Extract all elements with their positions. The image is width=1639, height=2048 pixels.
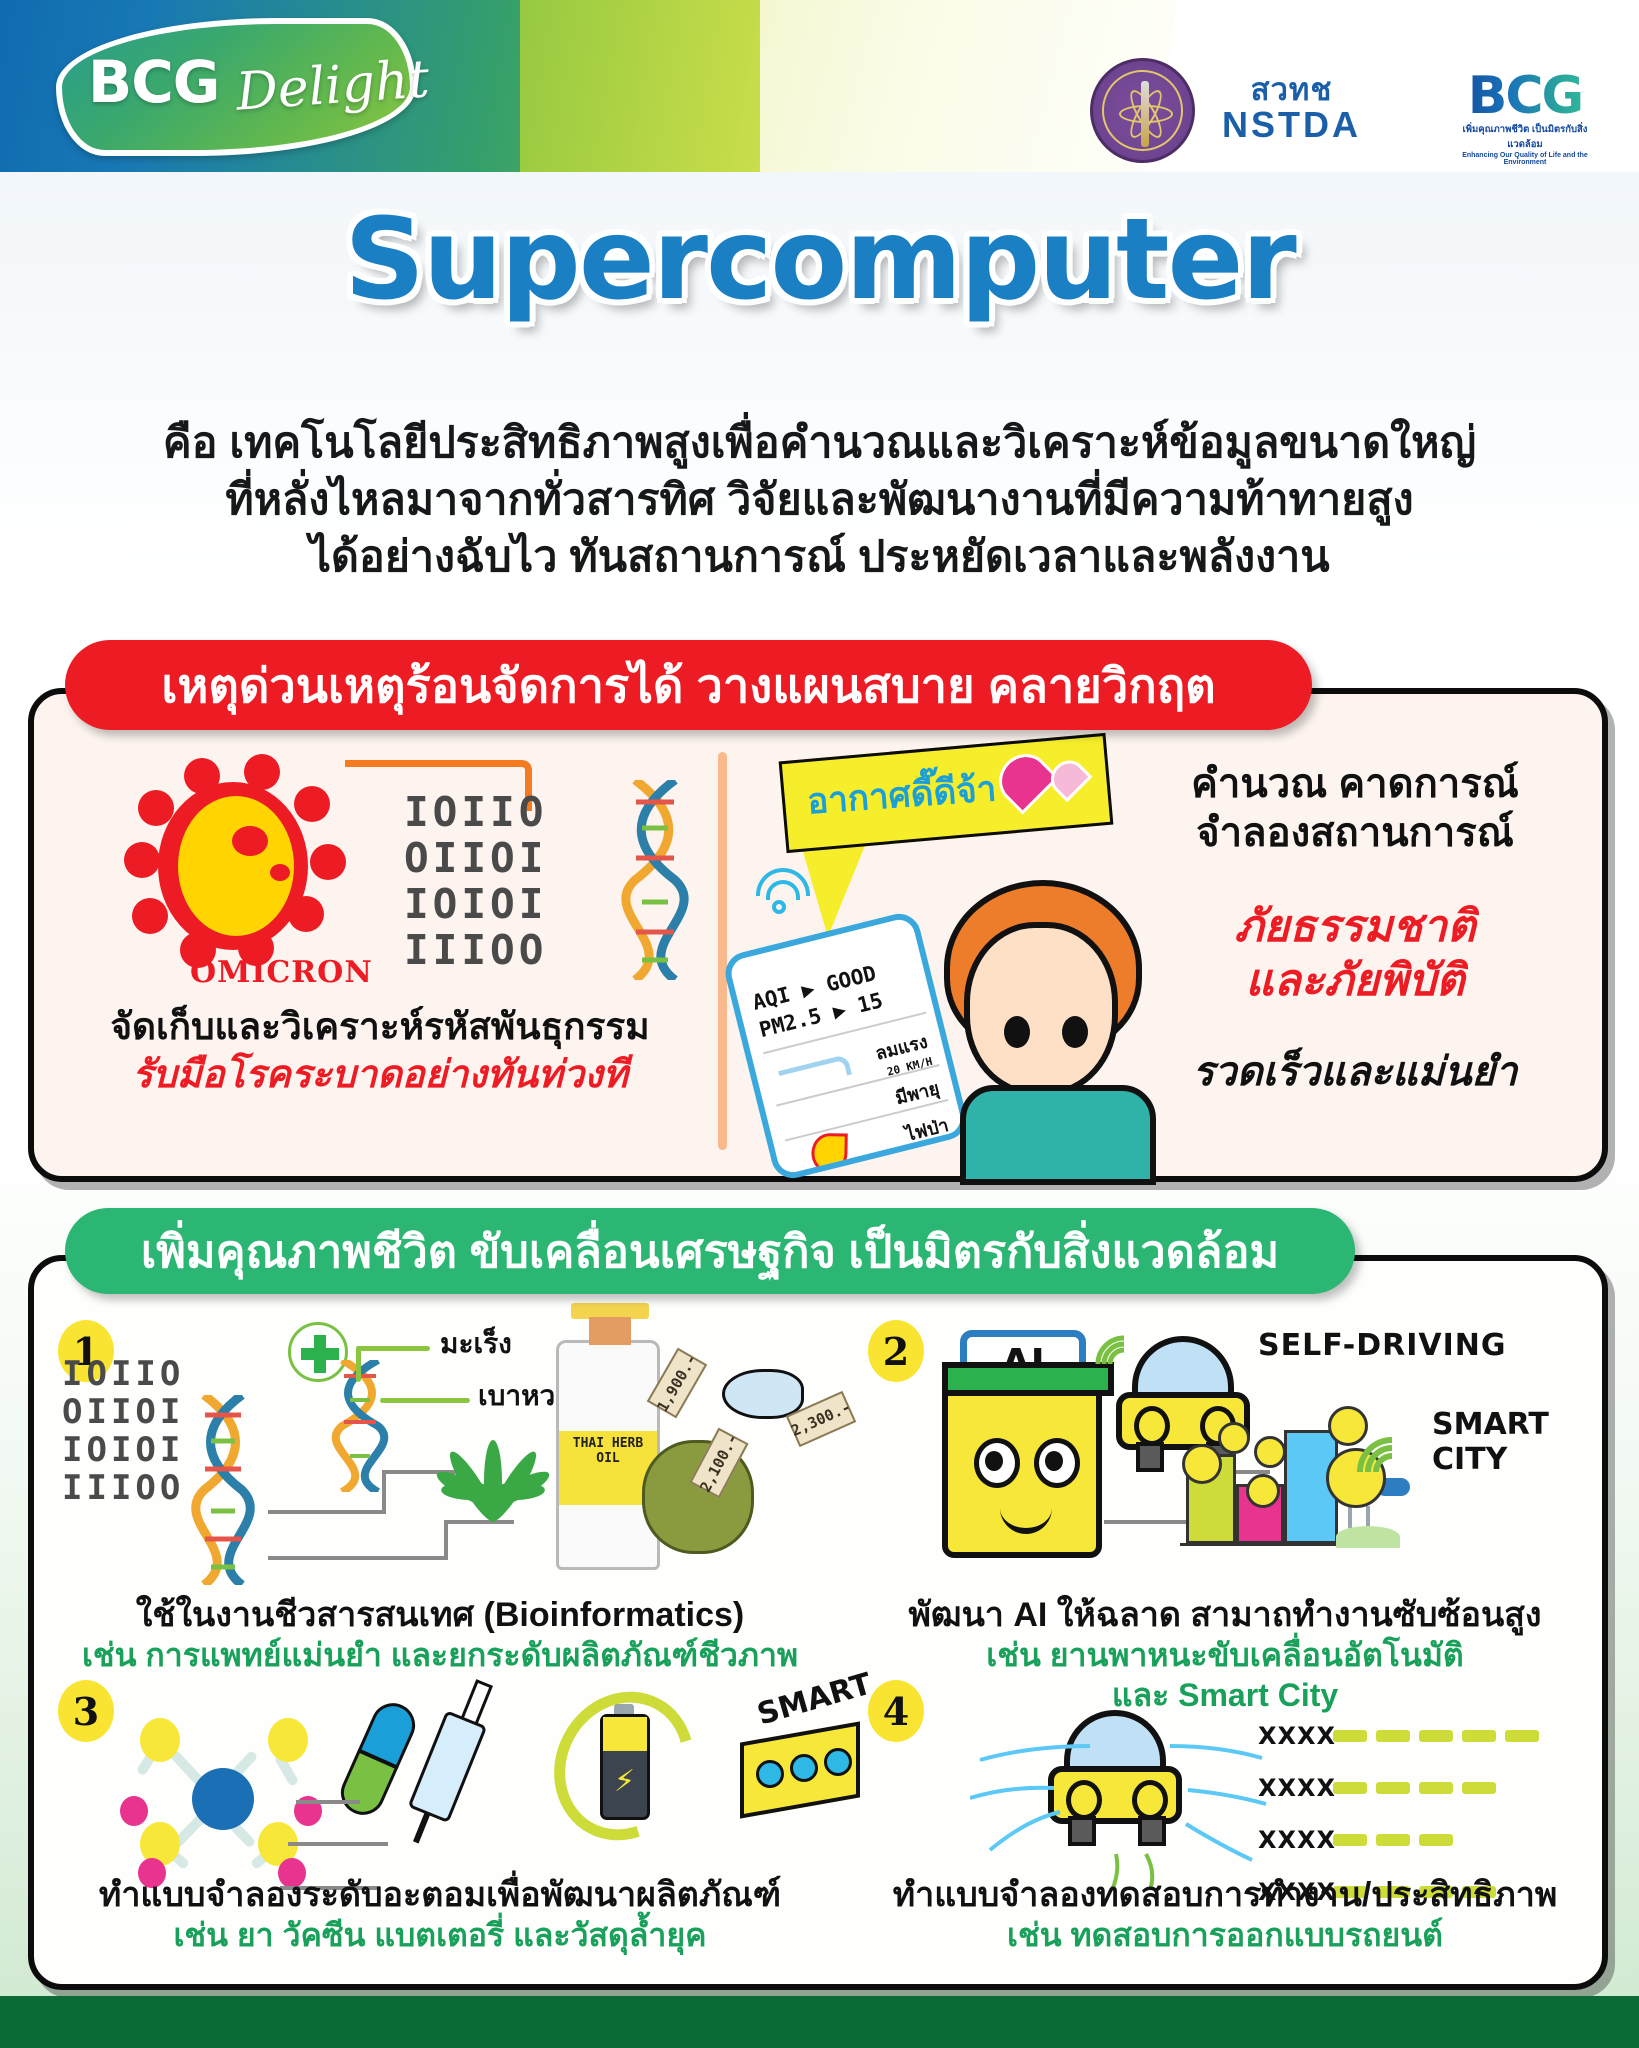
section-1-left-caption: จัดเก็บและวิเคราะห์รหัสพันธุกรรม — [60, 1004, 700, 1049]
nstda-wordmark: สวทช NSTDA — [1222, 74, 1361, 143]
omicron-label: OMICRON — [190, 955, 373, 990]
section-1-right-accent: ภัยธรรมชาติ และภัยพิบัติ — [1120, 900, 1590, 1007]
dna-helix-icon-2 — [190, 1395, 256, 1585]
bar-row-2: XXXX — [1258, 1774, 1539, 1802]
bcg-logo: BCG เพิ่มคุณภาพชีวิต เป็นมิตรกับสิ่งแวดล… — [1448, 72, 1602, 166]
section-2-banner: เพิ่มคุณภาพชีวิต ขับเคลื่อนเศรษฐกิจ เป็น… — [65, 1208, 1355, 1294]
bcg-delight-logo: BCG Delight — [56, 18, 416, 156]
footer-bar — [0, 1996, 1639, 2048]
item-3-caption-main: ทำแบบจำลองระดับอะตอมเพื่อพัฒนาผลิตภัณฑ์ — [45, 1875, 835, 1916]
binary-code-2: IOIIO OIIOI IOIOI IIIOO — [62, 1355, 184, 1507]
nstda-seal-icon — [1090, 58, 1195, 163]
heart-icon-large — [989, 744, 1060, 815]
nstda-english-text: NSTDA — [1222, 107, 1361, 143]
item-1-caption-example: เช่น การแพทย์แม่นยำ และยกระดับผลิตภัณฑ์ช… — [45, 1636, 835, 1675]
face-shape — [964, 922, 1118, 1096]
molecule-icon — [118, 1700, 328, 1890]
smart-material-icon — [740, 1708, 880, 1816]
item-2-caption-main: พัฒนา AI ให้ฉลาด สามาถทำงานซับซ้อนสูง — [845, 1595, 1605, 1636]
ai-robot-icon — [942, 1380, 1102, 1558]
item-3-number: 3 — [58, 1680, 114, 1742]
signal-icon-car — [1090, 1320, 1150, 1370]
section-1-left-caption-accent: รับมือโรคระบาดอย่างทันท่วงที — [60, 1052, 700, 1098]
herb-oil-bottle: THAI HERB OIL — [556, 1340, 660, 1570]
bcg-delight-logo-text: BCG — [88, 48, 219, 116]
torso-shirt — [960, 1085, 1156, 1185]
item-3-caption: ทำแบบจำลองระดับอะตอมเพื่อพัฒนาผลิตภัณฑ์ … — [45, 1875, 835, 1956]
dna-helix-icon — [620, 780, 690, 980]
item-4-caption: ทำแบบจำลองทดสอบการทำงาน/ประสิทธิภาพ เช่น… — [845, 1875, 1605, 1956]
item-2-caption-example: เช่น ยานพาหนะขับเคลื่อนอัตโนมัติ — [845, 1636, 1605, 1675]
bcg-tagline-thai: เพิ่มคุณภาพชีวิต เป็นมิตรกับสิ่งแวดล้อม — [1448, 122, 1602, 152]
nstda-thai-text: สวทช — [1222, 74, 1361, 105]
lead-line-1: คือ เทคโนโลยีประสิทธิภาพสูงเพื่อคำนวณและ… — [0, 415, 1639, 472]
section-1-right-line-1: คำนวณ คาดการณ์ จำลองสถานการณ์ — [1120, 760, 1590, 858]
wind-icon — [778, 1054, 852, 1092]
item-2-number: 2 — [868, 1320, 924, 1382]
self-driving-label: SELF-DRIVING — [1258, 1328, 1507, 1363]
wifi-icon — [756, 866, 808, 910]
item-4-caption-example: เช่น ทดสอบการออกแบบรถยนต์ — [845, 1916, 1605, 1955]
item-1-caption: ใช้ในงานชีวสารสนเทศ (Bioinformatics) เช่… — [45, 1595, 835, 1676]
lead-line-3: ได้อย่างฉับไว ทันสถานการณ์ ประหยัดเวลาแล… — [0, 529, 1639, 586]
battery-recycle-icon: ⚡ — [556, 1690, 692, 1842]
item-1-caption-main: ใช้ในงานชีวสารสนเทศ (Bioinformatics) — [45, 1595, 835, 1636]
bar-row-1: XXXX — [1258, 1722, 1539, 1750]
speech-bubble-text: อากาศดี๊ดีจ้า — [805, 761, 998, 829]
section-1-banner: เหตุด่วนเหตุร้อนจัดการได้ วางแผนสบาย คลา… — [65, 640, 1312, 730]
heart-icon-small — [1044, 753, 1093, 802]
item-4-caption-main: ทำแบบจำลองทดสอบการทำงาน/ประสิทธิภาพ — [845, 1875, 1605, 1916]
bcg-tagline-english: Enhancing Our Quality of Life and the En… — [1448, 152, 1602, 166]
signal-icon-city — [1352, 1420, 1422, 1480]
divider-bar — [718, 752, 727, 1150]
cannabis-leaf-icon — [432, 1430, 552, 1570]
smart-city-label: SMARTCITY — [1432, 1408, 1549, 1477]
binary-code-1: IOIIO OIIOI IOIOI IIIOO — [404, 790, 547, 974]
item-2-caption: พัฒนา AI ให้ฉลาด สามาถทำงานซับซ้อนสูง เช… — [845, 1595, 1605, 1715]
header-banner: BCG Delight สวทช NSTDA BCG เพิ่มคุณภาพชี… — [0, 0, 1639, 172]
item-4-number: 4 — [868, 1680, 924, 1742]
item-1-label-cancer: มะเร็ง — [440, 1322, 512, 1366]
page-title: Supercomputer — [0, 195, 1639, 325]
bcg-delight-script-text: Delight — [234, 49, 431, 122]
lead-paragraph: คือ เทคโนโลยีประสิทธิภาพสูงเพื่อคำนวณและ… — [0, 415, 1639, 585]
bcg-logo-text: BCG — [1448, 72, 1602, 121]
trident-icon — [1141, 81, 1149, 147]
section-1-right-line-3: รวดเร็วและแม่นยำ — [1120, 1048, 1590, 1097]
eye-left — [1004, 1016, 1030, 1048]
bottle-label-text: THAI HERB OIL — [559, 1431, 657, 1466]
eye-right — [1062, 1016, 1088, 1048]
virus-icon — [120, 752, 352, 972]
airflow-lines — [970, 1700, 1290, 1890]
bar-row-3: XXXX — [1258, 1826, 1539, 1854]
item-3-caption-example: เช่น ยา วัคซีน แบตเตอรี่ และวัสดุล้ำยุค — [45, 1916, 835, 1955]
lead-line-2: ที่หลั่งไหลมาจากทั่วสารทิศ วิจัยและพัฒนา… — [0, 472, 1639, 529]
